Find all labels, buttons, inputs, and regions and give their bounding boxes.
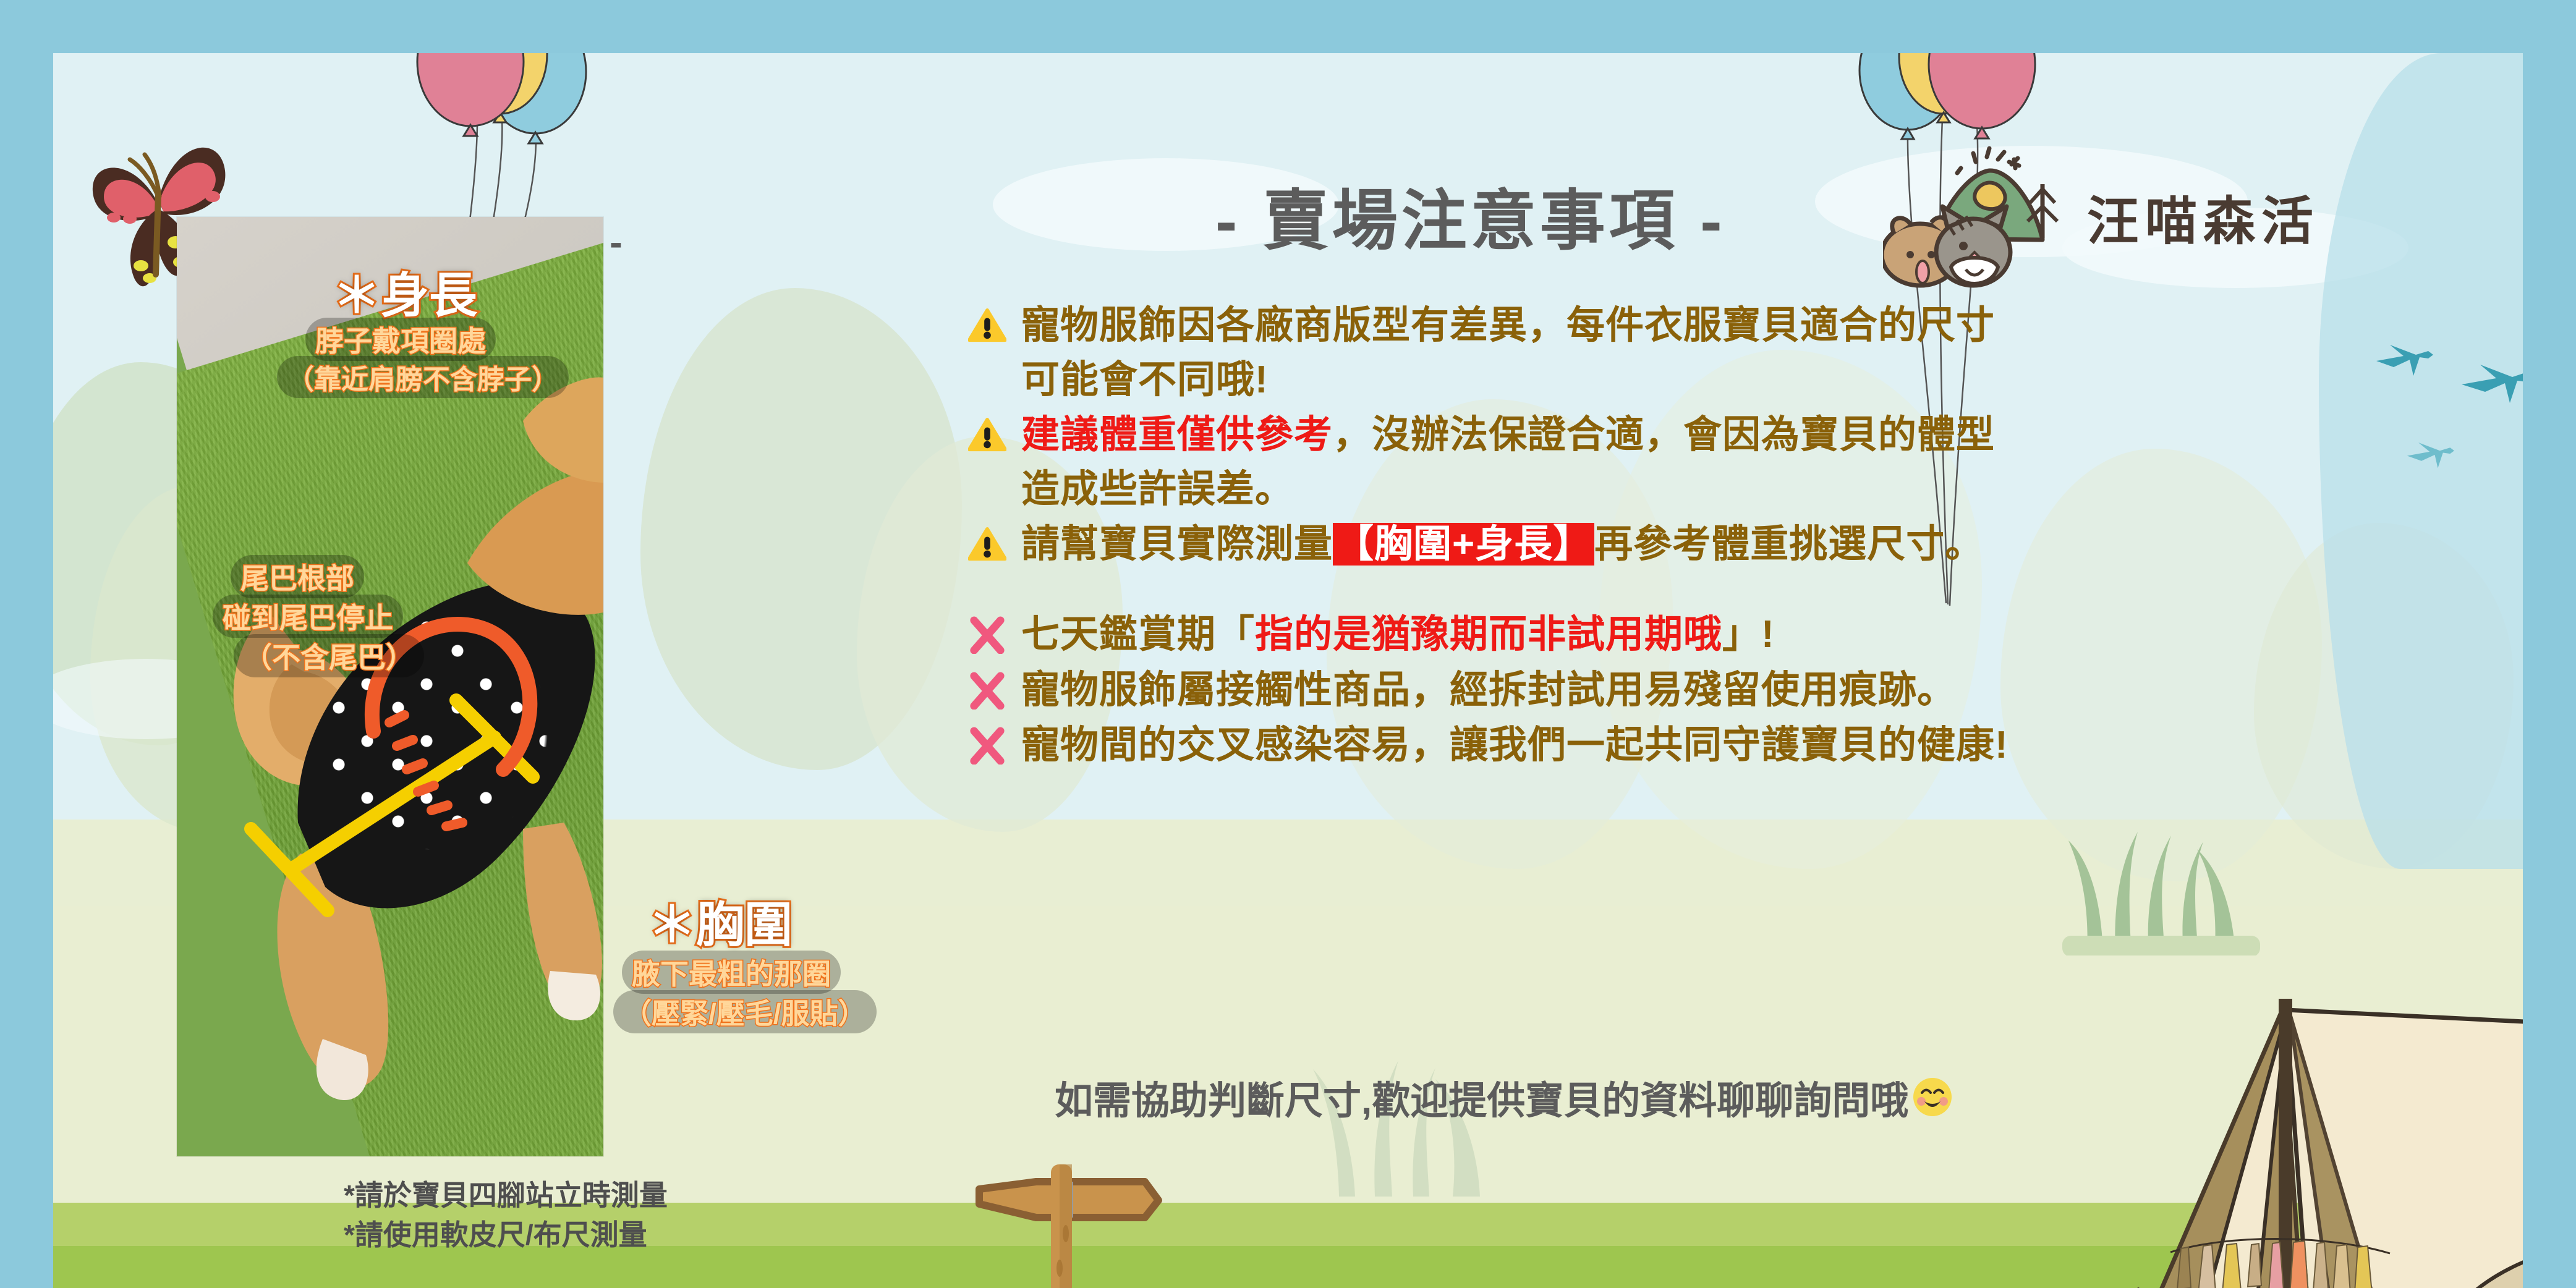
- notice-segment: 造成些許誤差。: [1021, 468, 1294, 511]
- tail-label-1: 尾巴根部: [231, 555, 364, 598]
- poster-card: - 測量方式 -: [53, 53, 2523, 1288]
- notice-segment: 」!: [1722, 613, 1775, 656]
- cross-icon: [968, 720, 1021, 771]
- notice-segment: ，沒辦法保證合適，會因為寶貝的體型: [1333, 413, 1995, 456]
- notice-text: 寵物服飾屬接觸性商品，經拆封試用易殘留使用痕跡。: [1021, 665, 1956, 716]
- tail-label-2: 碰到尾巴停止: [213, 595, 403, 638]
- warning-icon: [968, 527, 1006, 562]
- notice-row: 建議體重僅供參考，沒辦法保證合適，會因為寶貝的體型: [968, 410, 2523, 460]
- chest-girth-label: ＊胸圍: [648, 886, 793, 955]
- tail-label-3: （不含尾巴）: [234, 634, 424, 677]
- chest-girth-sub-1: 腋下最粗的那圈: [622, 951, 841, 994]
- body-length-sub-1: 脖子戴項圈處: [305, 318, 496, 361]
- notice-row: 可能會不同哦!: [968, 355, 2523, 405]
- page-title: - 賣場注意事項 -: [1215, 167, 1726, 263]
- notice-row: 七天鑑賞期「指的是猶豫期而非試用期哦」!: [968, 609, 2523, 661]
- dog-cat-mountain-logo-icon: [1883, 146, 2087, 288]
- notice-text: 寵物服飾因各廠商版型有差異，每件衣服寶貝適合的尺寸: [1021, 300, 1995, 351]
- closing-text: 如需協助判斷尺寸,歡迎提供寶貝的資料聊聊詢問哦: [1055, 1069, 1908, 1125]
- notice-text: 可能會不同哦!: [1021, 355, 1269, 405]
- brand-logo-text: 汪喵森活: [2087, 180, 2319, 255]
- notice-segment: 七天鑑賞期「: [1021, 613, 1255, 656]
- warning-icon: [968, 300, 1021, 351]
- cross-icon: [968, 671, 1006, 710]
- closing-line: 如需協助判斷尺寸,歡迎提供寶貝的資料聊聊詢問哦: [1055, 1069, 1953, 1125]
- notice-segment: 【胸圍+身長】: [1333, 523, 1594, 566]
- notice-text: 建議體重僅供參考，沒辦法保證合適，會因為寶貝的體型: [1021, 410, 1995, 460]
- notice-text: 寵物間的交叉感染容易，讓我們一起共同守護寶貝的健康!: [1021, 720, 2009, 771]
- notice-segment: 寵物服飾屬接觸性商品，經拆封試用易殘留使用痕跡。: [1021, 669, 1956, 711]
- notice-row: 請幫寶貝實際測量【胸圍+身長】再參考體重挑選尺寸。: [968, 519, 2523, 570]
- cross-icon: [968, 616, 1006, 654]
- cross-icon: [968, 665, 1021, 716]
- photo-footnote-1: *請於寶貝四腳站立時測量: [344, 1173, 668, 1214]
- warning-icon: [968, 308, 1006, 343]
- notice-segment: 請幫寶貝實際測量: [1021, 523, 1333, 566]
- body-length-sub-2: （靠近肩膀不含脖子）: [277, 356, 569, 398]
- warning-icon: [968, 418, 1006, 452]
- cross-icon: [968, 609, 1021, 661]
- tent-icon: [2124, 999, 2523, 1288]
- notice-segment: 指的是猶豫期而非試用期哦: [1255, 613, 1722, 656]
- notice-row: 寵物服飾屬接觸性商品，經拆封試用易殘留使用痕跡。: [968, 665, 2523, 716]
- notice-text: 七天鑑賞期「指的是猶豫期而非試用期哦」!: [1021, 609, 1775, 660]
- notices-list: 寵物服飾因各廠商版型有差異，每件衣服寶貝適合的尺寸可能會不同哦! 建議體重僅供參…: [968, 300, 2523, 776]
- body-length-line: [291, 737, 495, 870]
- grass-tuft: [2062, 795, 2260, 955]
- notice-segment: 再參考體重挑選尺寸。: [1594, 523, 1984, 566]
- chest-girth-sub-2: （壓緊/壓毛/服貼）: [613, 990, 877, 1033]
- notice-row: 寵物服飾因各廠商版型有差異，每件衣服寶貝適合的尺寸: [968, 300, 2523, 351]
- notice-segment: 寵物服飾因各廠商版型有差異，每件衣服寶貝適合的尺寸: [1021, 304, 1995, 347]
- notice-segment: 寵物間的交叉感染容易，讓我們一起共同守護寶貝的健康!: [1021, 724, 2009, 766]
- notice-segment: 可能會不同哦!: [1021, 358, 1269, 401]
- notice-row: [968, 574, 2523, 606]
- signpost-icon: [962, 1153, 1166, 1288]
- notice-text: 請幫寶貝實際測量【胸圍+身長】再參考體重挑選尺寸。: [1021, 519, 1984, 570]
- body-length-label: ＊身長: [333, 257, 477, 326]
- notice-segment: 建議體重僅供參考: [1021, 413, 1333, 456]
- poster-frame: - 測量方式 -: [0, 0, 2576, 1288]
- notice-row: 造成些許誤差。: [968, 464, 2523, 515]
- photo-footnote-2: *請使用軟皮尺/布尺測量: [344, 1213, 647, 1253]
- notice-row: 寵物間的交叉感染容易，讓我們一起共同守護寶貝的健康!: [968, 720, 2523, 771]
- warning-icon: [968, 519, 1021, 570]
- cross-icon: [968, 726, 1006, 765]
- brand-logo: 汪喵森活: [1883, 146, 2501, 288]
- warning-icon: [968, 410, 1021, 460]
- smiling-face-with-smiling-eyes-icon: [1912, 1077, 1953, 1117]
- notice-text: 造成些許誤差。: [1021, 464, 1294, 515]
